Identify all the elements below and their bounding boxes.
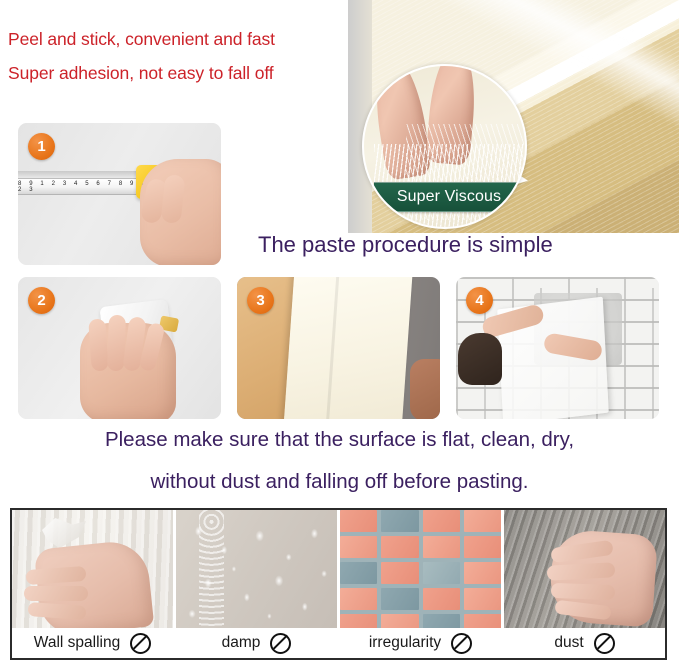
brick-texture: [340, 510, 501, 628]
headline-block: Peel and stick, convenient and fast Supe…: [8, 22, 348, 90]
finger-shape: [551, 583, 615, 600]
caution-line-1: Please make sure that the surface is fla…: [0, 428, 679, 452]
adhesive-foam-photo: Super Viscous: [348, 0, 679, 233]
panel-foam-sheet: [283, 277, 413, 419]
warning-text: damp: [222, 634, 261, 652]
prohibition-icon: [451, 633, 472, 654]
warning-label-dust: dust: [504, 628, 665, 658]
brick-row: [340, 588, 501, 610]
warning-image-irregularity: [340, 510, 501, 628]
hand-shape: [410, 359, 440, 419]
tape-measure-blade: [18, 171, 136, 178]
warning-image-wall-spalling: [12, 510, 173, 628]
caution-line-2: without dust and falling off before past…: [0, 470, 679, 494]
step-panel-3: 3: [237, 277, 440, 419]
prohibition-icon: [270, 633, 291, 654]
damp-texture: [176, 510, 337, 628]
step-badge-3: 3: [247, 287, 274, 314]
super-viscous-label: Super Viscous: [374, 182, 524, 212]
warning-label-wall-spalling: Wall spalling: [12, 628, 173, 658]
brick-row: [340, 510, 501, 532]
prohibition-icon: [594, 633, 615, 654]
step-badge-1: 1: [28, 133, 55, 160]
headline-line-1: Peel and stick, convenient and fast: [8, 22, 348, 56]
warning-image-dust: [504, 510, 665, 628]
person-head: [458, 333, 502, 385]
warning-label-irregularity: irregularity: [340, 628, 501, 658]
warning-cell-wall-spalling: Wall spalling: [12, 510, 176, 658]
brick-row: [340, 536, 501, 558]
super-viscous-callout: Super Viscous: [362, 64, 527, 229]
paste-procedure-heading: The paste procedure is simple: [258, 232, 553, 258]
warning-cell-damp: damp: [176, 510, 340, 658]
warning-label-damp: damp: [176, 628, 337, 658]
warning-text: dust: [554, 634, 583, 652]
warning-cell-irregularity: irregularity: [340, 510, 504, 658]
warning-cell-dust: dust: [504, 510, 665, 658]
surface-warnings-strip: Wall spalling damp: [10, 508, 667, 660]
step-badge-2: 2: [28, 287, 55, 314]
step-panel-1: 8 9 1 2 3 4 5 6 7 8 9 1 2 3 1: [18, 123, 221, 265]
finger-shape: [24, 586, 88, 601]
infographic-canvas: Peel and stick, convenient and fast Supe…: [0, 0, 679, 670]
warning-image-damp: [176, 510, 337, 628]
headline-line-2: Super adhesion, not easy to fall off: [8, 56, 348, 90]
warning-text: Wall spalling: [34, 634, 120, 652]
step-badge-4: 4: [466, 287, 493, 314]
magnifier-circle: Super Viscous: [362, 64, 527, 229]
step-panel-4: 4: [456, 277, 659, 419]
step-panel-2: 2: [18, 277, 221, 419]
warning-text: irregularity: [369, 634, 441, 652]
prohibition-icon: [130, 633, 151, 654]
brick-row: [340, 614, 501, 628]
brick-row: [340, 562, 501, 584]
finger-shape: [88, 318, 109, 371]
